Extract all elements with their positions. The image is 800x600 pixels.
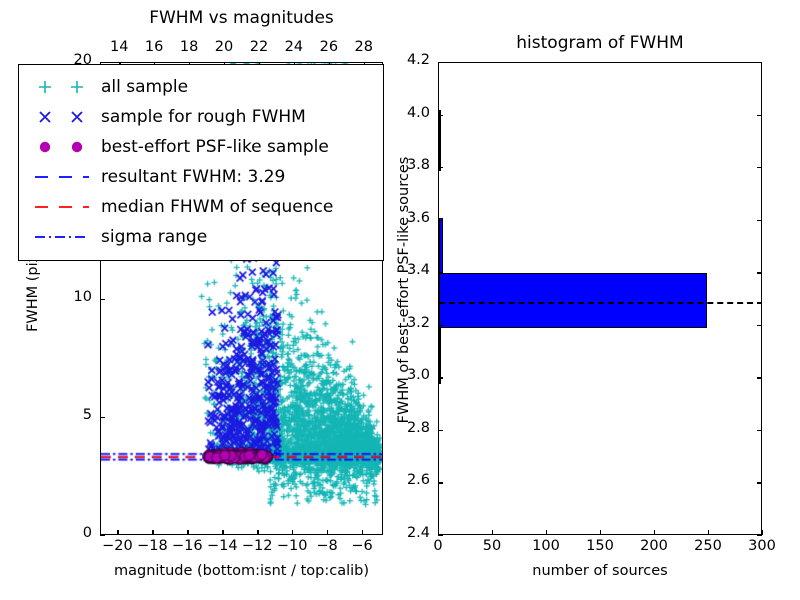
hist-ytick-label: 3.2 — [388, 315, 430, 331]
hist-ytick-label: 3.8 — [388, 157, 430, 173]
xtick-mark — [117, 530, 118, 535]
hist-xtick-mark — [600, 530, 601, 535]
hist-xtick-mark — [492, 530, 493, 535]
xtick-mark — [222, 530, 223, 535]
hist-ytick-label: 4.0 — [388, 105, 430, 121]
plot-legend: all samplesample for rough FWHMbest-effo… — [18, 64, 384, 261]
ytick-mark — [100, 417, 105, 418]
hist-ytick-label: 3.4 — [388, 262, 430, 278]
histogram-xaxis-label: number of sources — [438, 563, 762, 579]
hist-ytick-mark-right — [757, 62, 762, 63]
hist-ytick-label: 3.0 — [388, 367, 430, 383]
ytick-label: 10 — [42, 289, 92, 305]
legend-item: all sample — [27, 72, 375, 102]
hist-ytick-mark — [438, 62, 443, 63]
hist-ytick-mark — [438, 272, 443, 273]
legend-marker-cross-icon — [27, 104, 101, 130]
hist-xtick-label: 300 — [740, 538, 784, 554]
hist-ytick-mark-right — [757, 272, 762, 273]
hist-xtick-mark — [708, 530, 709, 535]
hist-ytick-mark — [438, 325, 443, 326]
legend-label: resultant FWHM: 3.29 — [101, 169, 285, 186]
hist-xtick-mark — [546, 530, 547, 535]
hist-xtick-label: 200 — [632, 538, 676, 554]
hist-ytick-mark-right — [757, 377, 762, 378]
legend-item: best-effort PSF-like sample — [27, 132, 375, 162]
histogram-plot-title: histogram of FWHM — [438, 33, 762, 53]
legend-marker-circle-icon — [27, 134, 101, 160]
ytick-mark — [100, 299, 105, 300]
legend-marker-dashdot-line-icon — [27, 224, 101, 250]
hist-ytick-label: 3.6 — [388, 210, 430, 226]
xtick-mark — [257, 530, 258, 535]
scatter-plot-title: FWHM vs magnitudes — [100, 8, 383, 28]
hist-ytick-mark-right — [757, 535, 762, 536]
hist-ytick-mark — [438, 115, 443, 116]
histogram-bar — [439, 328, 441, 383]
histogram-bar — [439, 273, 707, 328]
hist-ytick-mark — [438, 430, 443, 431]
legend-label: best-effort PSF-like sample — [101, 139, 329, 156]
hist-xtick-label: 250 — [686, 538, 730, 554]
figure-canvas: FWHM vs magnitudes magnitude (bottom:isn… — [0, 0, 800, 600]
histogram-bar — [439, 110, 441, 170]
legend-label: median FHWM of sequence — [101, 199, 333, 216]
xtick-mark — [187, 530, 188, 535]
hist-ytick-mark-right — [757, 325, 762, 326]
xtick-mark — [152, 530, 153, 535]
hist-ytick-mark — [438, 167, 443, 168]
legend-item: sample for rough FWHM — [27, 102, 375, 132]
histogram-yaxis-label: FWHM of best-effort PSF-like sources — [396, 80, 412, 500]
xtick-mark — [327, 530, 328, 535]
hist-ytick-mark — [438, 377, 443, 378]
hist-ytick-mark — [438, 535, 443, 536]
histogram-plot-axes — [438, 62, 762, 535]
legend-item: median FHWM of sequence — [27, 192, 375, 222]
legend-item: sigma range — [27, 222, 375, 252]
hist-ytick-mark-right — [757, 220, 762, 221]
legend-marker-dashed-line-icon — [27, 164, 101, 190]
xtick-label: −6 — [340, 538, 384, 554]
legend-label: all sample — [101, 79, 188, 96]
histogram-bar — [439, 218, 443, 273]
top-xtick-label: 28 — [342, 39, 386, 55]
legend-item: resultant FWHM: 3.29 — [27, 162, 375, 192]
ytick-mark — [100, 535, 105, 536]
hist-xtick-mark — [762, 530, 763, 535]
hist-ytick-mark-right — [757, 115, 762, 116]
hist-ytick-mark-right — [757, 482, 762, 483]
ytick-label: 0 — [42, 525, 92, 541]
hist-xtick-label: 100 — [524, 538, 568, 554]
hist-ytick-label: 4.2 — [388, 52, 430, 68]
xtick-mark — [362, 530, 363, 535]
legend-marker-dashed-line-icon — [27, 194, 101, 220]
hist-xtick-label: 50 — [470, 538, 514, 554]
legend-marker-plus-icon — [27, 74, 101, 100]
scatter-xaxis-label: magnitude (bottom:isnt / top:calib) — [80, 563, 403, 579]
hist-ytick-label: 2.8 — [388, 420, 430, 436]
hist-ytick-label: 2.4 — [388, 525, 430, 541]
hist-ytick-mark — [438, 220, 443, 221]
hist-ytick-mark — [438, 482, 443, 483]
legend-label: sigma range — [101, 229, 207, 246]
ytick-label: 5 — [42, 407, 92, 423]
hist-xtick-label: 150 — [578, 538, 622, 554]
legend-label: sample for rough FWHM — [101, 109, 306, 126]
xtick-mark — [292, 530, 293, 535]
hist-ytick-mark-right — [757, 167, 762, 168]
histogram-median-line — [439, 302, 762, 304]
hist-ytick-label: 2.6 — [388, 472, 430, 488]
hist-xtick-mark — [654, 530, 655, 535]
hist-ytick-mark-right — [757, 430, 762, 431]
